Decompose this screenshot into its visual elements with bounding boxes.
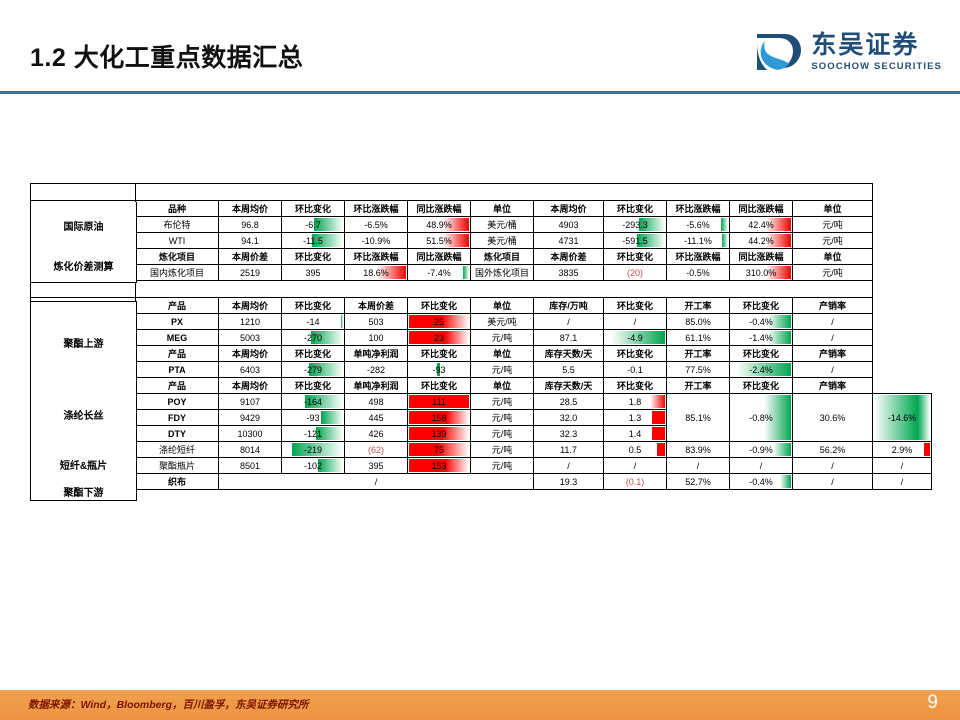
cell-value: /: [667, 458, 730, 474]
row-group-filament: 涤纶长丝: [30, 381, 137, 448]
cell-text: -279: [304, 365, 322, 375]
cell-value: -0.9%: [730, 442, 793, 458]
table-row: 国内炼化项目 2519 395 18.6% -7.4% 国外炼化项目 3835 …: [31, 265, 932, 281]
cell-value: 48.9%: [408, 217, 471, 233]
cell-value: -279: [282, 362, 345, 378]
col-header: 本周均价: [219, 378, 282, 394]
table-row: PX 1210 -14 503 25 美元/吨 / / 85.0% -0.4% …: [31, 314, 932, 330]
col-header: 产品: [136, 378, 219, 394]
spacer-cell: [31, 184, 136, 201]
cell-value: 75: [408, 442, 471, 458]
col-header: 环比变化: [604, 201, 667, 217]
logo-text-en: SOOCHOW SECURITIES: [811, 62, 942, 72]
row-item: MEG: [136, 330, 219, 346]
col-header: 环比变化: [282, 249, 345, 265]
row-group-polyester-upstream: 聚酯上游: [30, 301, 137, 383]
cell-value: 498: [345, 394, 408, 410]
cell-text: 2.9%: [892, 445, 913, 455]
col-header: 库存天数/天: [534, 346, 604, 362]
row-group-polyester-downstream: 聚酯下游: [30, 482, 137, 501]
cell-value: -121: [282, 426, 345, 442]
cell-text: 1.8: [629, 397, 642, 407]
cell-value: 42.4%: [730, 217, 793, 233]
soochow-logo-icon: [755, 30, 803, 74]
table-row: WTI 94.1 -11.5 -10.9% 51.5% 美元/桶 4731 -5…: [31, 233, 932, 249]
table-row: 产品 本周均价 环比变化 单吨净利润 环比变化 单位 库存天数/天 环比变化 开…: [31, 346, 932, 362]
cell-text: 51.5%: [426, 236, 452, 246]
row-item: POY: [136, 394, 219, 410]
cell-value: 美元/桶: [471, 217, 534, 233]
col-header: 环比变化: [604, 346, 667, 362]
cell-value: -11.5: [282, 233, 345, 249]
table-row: 产品 本周均价 环比变化 本周价差 环比变化 单位 库存/万吨 环比变化 开工率…: [31, 298, 932, 314]
cell-value: 元/吨: [471, 394, 534, 410]
cell-value: 8014: [219, 442, 282, 458]
col-header: 同比涨跌幅: [730, 201, 793, 217]
col-header: 环比变化: [408, 298, 471, 314]
cell-value: -164: [282, 394, 345, 410]
cell-value: -10.9%: [345, 233, 408, 249]
cell-value: 美元/桶: [471, 233, 534, 249]
cell-text: -14: [306, 317, 319, 327]
cell-value: 395: [345, 458, 408, 474]
cell-text: 23: [434, 333, 444, 343]
cell-value: (0.1): [604, 474, 667, 490]
cell-text: 44.2%: [748, 236, 774, 246]
cell-text: 18.6%: [363, 268, 389, 278]
col-header: 本周均价: [219, 298, 282, 314]
cell-value: 1210: [219, 314, 282, 330]
brand-logo: 东吴证券 SOOCHOW SECURITIES: [755, 30, 942, 74]
col-header: 环比涨跌幅: [345, 201, 408, 217]
col-header: 单位: [471, 298, 534, 314]
cell-value: 8501: [219, 458, 282, 474]
page-number: 9: [927, 692, 938, 714]
cell-text: -93: [432, 365, 445, 375]
cell-value: -591.5: [604, 233, 667, 249]
cell-text: -93: [306, 413, 319, 423]
cell-value: 4731: [534, 233, 604, 249]
cell-text: 153: [431, 461, 446, 471]
cell-value: /: [793, 330, 873, 346]
cell-value: 2519: [219, 265, 282, 281]
col-header: 产销率: [793, 346, 873, 362]
cell-text: -4.9: [627, 333, 643, 343]
cell-value: 1.8: [604, 394, 667, 410]
row-item: PTA: [136, 362, 219, 378]
row-item: PX: [136, 314, 219, 330]
cell-text: -121: [304, 429, 322, 439]
cell-value: /: [534, 458, 604, 474]
col-header: 环比变化: [730, 298, 793, 314]
col-header: 品种: [136, 201, 219, 217]
data-table-container: 油价及国内外大炼化价差 品种 本周均价 环比变化 环比涨跌幅 同比涨跌幅 单位 …: [30, 183, 932, 490]
cell-text: -102: [304, 461, 322, 471]
cell-value: 元/吨: [471, 410, 534, 426]
slide-header: 1.2 大化工重点数据汇总 东吴证券 SOOCHOW SECURITIES: [0, 0, 960, 92]
row-item: WTI: [136, 233, 219, 249]
table-row: 炼化项目 本周价差 环比变化 环比涨跌幅 同比涨跌幅 炼化项目 本周价差 环比变…: [31, 249, 932, 265]
col-header: 环比变化: [730, 346, 793, 362]
cell-value: 0.5: [604, 442, 667, 458]
cell-value: 5.5: [534, 362, 604, 378]
cell-text: -270: [304, 333, 322, 343]
col-header: 开工率: [667, 346, 730, 362]
cell-value: -0.1: [604, 362, 667, 378]
cell-value: -7.4%: [408, 265, 471, 281]
cell-value: -4.9: [604, 330, 667, 346]
cell-value: 56.2%: [793, 442, 873, 458]
row-group-crude-oil: 国际原油: [30, 202, 137, 250]
col-header: 单位: [793, 201, 873, 217]
table-row: 涤纶短纤 8014 -219 (62) 75 元/吨 11.7 0.5 83.9…: [31, 442, 932, 458]
data-source-note: 数据来源：Wind，Bloomberg，百川盈孚，东吴证券研究所: [28, 697, 308, 712]
band-title-oil: 油价及国内外大炼化价差: [136, 184, 873, 201]
cell-value: 111: [408, 394, 471, 410]
col-header: 单位: [471, 378, 534, 394]
cell-value: 426: [345, 426, 408, 442]
col-header: 环比变化: [282, 298, 345, 314]
col-header: 本周均价: [534, 201, 604, 217]
cell-text: 75: [434, 445, 444, 455]
cell-value: 1.3: [604, 410, 667, 426]
cell-text: 158: [431, 413, 446, 423]
cell-text: -2.4%: [749, 365, 773, 375]
col-header: 环比变化: [604, 298, 667, 314]
cell-text: -219: [304, 445, 322, 455]
cell-value: 9429: [219, 410, 282, 426]
cell-value: 2.9%: [873, 442, 932, 458]
cell-value: -93: [408, 362, 471, 378]
cell-value: /: [793, 474, 873, 490]
cell-value: 30.6%: [793, 394, 873, 442]
cell-text: -11.1%: [684, 236, 712, 246]
cell-value: 元/吨: [471, 330, 534, 346]
cell-value: 元/吨: [471, 426, 534, 442]
col-header: 本周价差: [219, 249, 282, 265]
cell-text: -0.8%: [749, 413, 773, 423]
cell-value: 395: [282, 265, 345, 281]
col-header: 环比变化: [282, 378, 345, 394]
table-band-row: 油价及国内外大炼化价差: [31, 184, 932, 201]
cell-value: /: [793, 314, 873, 330]
cell-value: 445: [345, 410, 408, 426]
cell-value: 4903: [534, 217, 604, 233]
table-row: POY 9107 -164 498 111 元/吨 28.5 1.8 85.1%…: [31, 394, 932, 410]
col-header: 炼化项目: [471, 249, 534, 265]
cell-value: -14: [282, 314, 345, 330]
cell-text: -6.7: [305, 220, 321, 230]
col-header: 单位: [471, 346, 534, 362]
cell-value: -270: [282, 330, 345, 346]
cell-value: 18.6%: [345, 265, 408, 281]
table-row: PTA 6403 -279 -282 -93 元/吨 5.5 -0.1 77.5…: [31, 362, 932, 378]
header-divider: [0, 91, 960, 94]
cell-value: 153: [408, 458, 471, 474]
cell-value: /: [730, 458, 793, 474]
col-header: 同比涨跌幅: [408, 201, 471, 217]
col-header: 本周价差: [345, 298, 408, 314]
cell-value: -219: [282, 442, 345, 458]
col-header: 同比涨跌幅: [730, 249, 793, 265]
cell-value: 139: [408, 426, 471, 442]
col-header: 炼化项目: [136, 249, 219, 265]
cell-value: /: [604, 314, 667, 330]
cell-value: 1.4: [604, 426, 667, 442]
cell-value: /: [873, 474, 932, 490]
cell-value: 美元/吨: [471, 314, 534, 330]
cell-value: (20): [604, 265, 667, 281]
cell-value: -293.3: [604, 217, 667, 233]
cell-value: 元/吨: [471, 442, 534, 458]
cell-text: -7.4%: [427, 268, 451, 278]
cell-value: 元/吨: [793, 217, 873, 233]
table-band-row: 聚酯板块: [31, 281, 932, 298]
cell-value: 96.8: [219, 217, 282, 233]
cell-text: 1.3: [629, 413, 642, 423]
cell-value: 85.0%: [667, 314, 730, 330]
row-item: 织布: [136, 474, 219, 490]
cell-value: -0.8%: [730, 394, 793, 442]
col-header: 环比变化: [408, 378, 471, 394]
cell-value: 23: [408, 330, 471, 346]
cell-value: -0.4%: [730, 314, 793, 330]
band-title-polyester: 聚酯板块: [136, 281, 873, 298]
cell-value: -0.4%: [730, 474, 793, 490]
cell-value: -5.6%: [667, 217, 730, 233]
cell-value: /: [604, 458, 667, 474]
cell-value: 100: [345, 330, 408, 346]
col-header: 单吨净利润: [345, 378, 408, 394]
cell-value: 32.0: [534, 410, 604, 426]
cell-text: -0.9%: [749, 445, 773, 455]
cell-value: /: [534, 314, 604, 330]
col-header: 环比变化: [282, 346, 345, 362]
cell-text: -164: [304, 397, 322, 407]
cell-value: -11.1%: [667, 233, 730, 249]
spacer-cell: [31, 281, 136, 298]
cell-value: -6.7: [282, 217, 345, 233]
cell-value: -282: [345, 362, 408, 378]
cell-value: 51.5%: [408, 233, 471, 249]
cell-value: 25: [408, 314, 471, 330]
col-header: 环比变化: [604, 249, 667, 265]
col-header: 环比涨跌幅: [667, 249, 730, 265]
row-item: FDY: [136, 410, 219, 426]
cell-value: 元/吨: [471, 458, 534, 474]
table-row: 织布 / 19.3 (0.1) 52.7% -0.4% / /: [31, 474, 932, 490]
cell-value: /: [793, 362, 873, 378]
cell-value: 44.2%: [730, 233, 793, 249]
col-header: 同比涨跌幅: [408, 249, 471, 265]
cell-value: -2.4%: [730, 362, 793, 378]
col-header: 环比涨跌幅: [667, 201, 730, 217]
cell-value: -6.5%: [345, 217, 408, 233]
cell-value: 94.1: [219, 233, 282, 249]
cell-value: 3835: [534, 265, 604, 281]
row-item: 布伦特: [136, 217, 219, 233]
col-header: 产销率: [793, 378, 873, 394]
cell-value: 310.0%: [730, 265, 793, 281]
row-item: 国外炼化项目: [471, 265, 534, 281]
cell-value: 85.1%: [667, 394, 730, 442]
table-row: 布伦特 96.8 -6.7 -6.5% 48.9% 美元/桶 4903 -293…: [31, 217, 932, 233]
cell-value: -1.4%: [730, 330, 793, 346]
cell-value: /: [873, 458, 932, 474]
chemicals-summary-table: 油价及国内外大炼化价差 品种 本周均价 环比变化 环比涨跌幅 同比涨跌幅 单位 …: [30, 183, 932, 490]
cell-value: 77.5%: [667, 362, 730, 378]
cell-value: 元/吨: [793, 265, 873, 281]
col-header: 环比变化: [604, 378, 667, 394]
cell-text: 25: [434, 317, 444, 327]
row-item: DTY: [136, 426, 219, 442]
col-header: 产销率: [793, 298, 873, 314]
cell-value: 5003: [219, 330, 282, 346]
cell-value: -93: [282, 410, 345, 426]
col-header: 环比涨跌幅: [345, 249, 408, 265]
cell-text: 111: [432, 397, 446, 407]
cell-value: (62): [345, 442, 408, 458]
cell-value: 元/吨: [471, 362, 534, 378]
cell-text: -0.4%: [749, 477, 773, 487]
table-row: 品种 本周均价 环比变化 环比涨跌幅 同比涨跌幅 单位 本周均价 环比变化 环比…: [31, 201, 932, 217]
cell-value: 61.1%: [667, 330, 730, 346]
col-header: 库存/万吨: [534, 298, 604, 314]
table-row: 聚酯瓶片 8501 -102 395 153 元/吨 / / / / / /: [31, 458, 932, 474]
col-header: 环比变化: [730, 378, 793, 394]
col-header: 开工率: [667, 298, 730, 314]
table-row: MEG 5003 -270 100 23 元/吨 87.1 -4.9 61.1%…: [31, 330, 932, 346]
col-header: 开工率: [667, 378, 730, 394]
cell-value: 6403: [219, 362, 282, 378]
cell-text: 42.4%: [748, 220, 774, 230]
cell-value: 28.5: [534, 394, 604, 410]
col-header: 库存天数/天: [534, 378, 604, 394]
cell-value: 9107: [219, 394, 282, 410]
cell-value: 158: [408, 410, 471, 426]
footer-bar: 数据来源：Wind，Bloomberg，百川盈孚，东吴证券研究所 9: [0, 690, 960, 720]
col-header: 本周均价: [219, 201, 282, 217]
cell-value: 11.7: [534, 442, 604, 458]
cell-value: -102: [282, 458, 345, 474]
cell-value: 83.9%: [667, 442, 730, 458]
cell-value: -0.5%: [667, 265, 730, 281]
cell-value: 10300: [219, 426, 282, 442]
row-group-refining-spread: 炼化价差测算: [30, 249, 137, 283]
col-header: 单吨净利润: [345, 346, 408, 362]
row-item: 聚酯瓶片: [136, 458, 219, 474]
cell-text: 139: [431, 429, 446, 439]
col-header: 本周均价: [219, 346, 282, 362]
row-item: 涤纶短纤: [136, 442, 219, 458]
cell-value: 503: [345, 314, 408, 330]
cell-value: 32.3: [534, 426, 604, 442]
cell-text: 1.4: [629, 429, 642, 439]
col-header: 单位: [793, 249, 873, 265]
table-row: 产品 本周均价 环比变化 单吨净利润 环比变化 单位 库存天数/天 环比变化 开…: [31, 378, 932, 394]
page-title: 1.2 大化工重点数据汇总: [30, 38, 303, 74]
col-header: 环比变化: [282, 201, 345, 217]
cell-text: -0.4%: [749, 317, 773, 327]
cell-value: /: [793, 458, 873, 474]
cell-text: 48.9%: [426, 220, 452, 230]
cell-value: 87.1: [534, 330, 604, 346]
cell-value: -14.6%: [873, 394, 932, 442]
cell-text: -5.6%: [686, 220, 710, 230]
cell-value: 元/吨: [793, 233, 873, 249]
cell-text: -1.4%: [749, 333, 773, 343]
cell-text: 310.0%: [746, 268, 777, 278]
col-header: 环比变化: [408, 346, 471, 362]
cell-text: 0.5: [629, 445, 642, 455]
cell-value: 52.7%: [667, 474, 730, 490]
col-header: 本周价差: [534, 249, 604, 265]
logo-text-cn: 东吴证券: [811, 33, 942, 58]
row-item: 国内炼化项目: [136, 265, 219, 281]
cell-text: -293.3: [622, 220, 648, 230]
col-header: 产品: [136, 346, 219, 362]
cell-text: -14.6%: [888, 413, 917, 423]
cell-text: -11.5: [303, 236, 323, 246]
cell-value: /: [219, 474, 534, 490]
col-header: 单位: [471, 201, 534, 217]
row-group-staple-bottle: 短纤&瓶片: [30, 447, 137, 483]
cell-text: -591.5: [622, 236, 648, 246]
cell-value: 19.3: [534, 474, 604, 490]
col-header: 产品: [136, 298, 219, 314]
